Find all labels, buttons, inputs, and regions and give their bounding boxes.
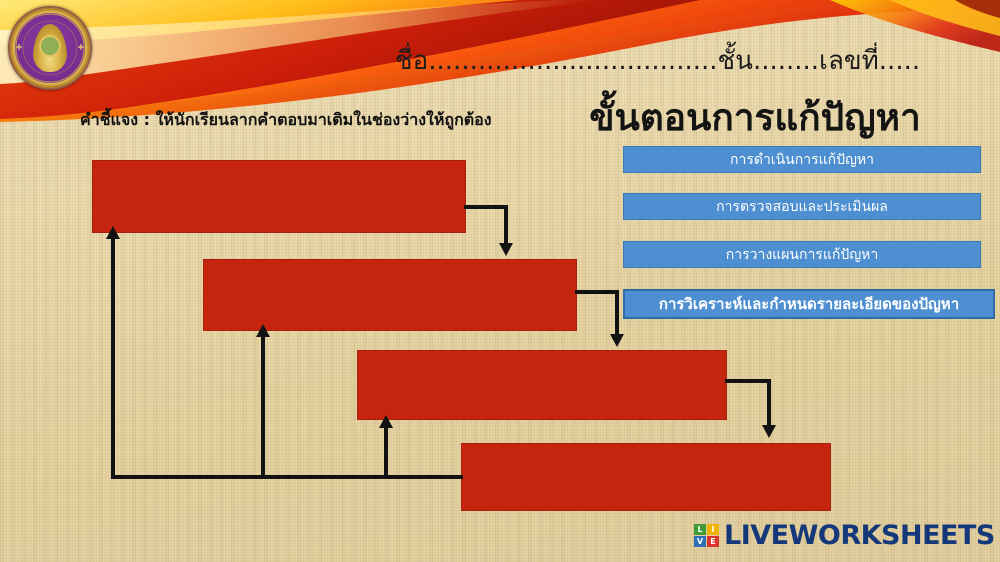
liveworksheets-wordmark: LIVEWORKSHEETS xyxy=(724,522,995,549)
worksheet-page: ชื่อ...................................ช… xyxy=(0,0,1000,562)
answer-chip-4[interactable]: การวิเคราะห์และกำหนดรายละเอียดของปัญหา xyxy=(623,289,995,319)
connector-1-horizontal xyxy=(464,205,508,209)
connector-2-vertical xyxy=(615,290,619,336)
connector-1-vertical xyxy=(504,205,508,245)
drop-target-2[interactable] xyxy=(203,259,577,331)
logo-tile-v: V xyxy=(694,536,706,547)
connector-3-horizontal xyxy=(725,379,771,383)
feedback-loop-rail xyxy=(111,475,463,479)
liveworksheets-logo-tiles: L I V E xyxy=(694,524,719,547)
instruction-text: คำชี้แจง : ให้นักเรียนลากคำตอบมาเติมในช่… xyxy=(80,108,492,133)
connector-2-horizontal xyxy=(575,290,619,294)
feedback-arrowhead-1 xyxy=(106,226,120,239)
drop-target-3[interactable] xyxy=(357,350,727,420)
feedback-arrowhead-3 xyxy=(379,415,393,428)
connector-1-arrowhead xyxy=(499,243,513,256)
feedback-riser-1 xyxy=(111,238,115,477)
connector-3-arrowhead xyxy=(762,425,776,438)
connector-2-arrowhead xyxy=(610,334,624,347)
feedback-arrowhead-2 xyxy=(256,324,270,337)
logo-tile-l: L xyxy=(694,524,706,535)
connector-3-vertical xyxy=(767,379,771,427)
logo-tile-i: I xyxy=(707,524,719,535)
student-name-line: ชื่อ...................................ช… xyxy=(395,40,955,81)
liveworksheets-logo[interactable]: L I V E LIVEWORKSHEETS xyxy=(694,522,995,549)
feedback-riser-2 xyxy=(261,336,265,477)
answer-chip-1[interactable]: การดำเนินการแก้ปัญหา xyxy=(623,146,981,173)
page-title: ขั้นตอนการแก้ปัญหา xyxy=(545,88,965,147)
school-emblem-icon xyxy=(8,6,92,90)
drop-target-4[interactable] xyxy=(461,443,831,511)
drop-target-1[interactable] xyxy=(92,160,466,233)
feedback-riser-3 xyxy=(384,427,388,477)
logo-tile-e: E xyxy=(707,536,719,547)
emblem-text-arc xyxy=(8,6,92,90)
answer-chip-3[interactable]: การวางแผนการแก้ปัญหา xyxy=(623,241,981,268)
answer-chip-2[interactable]: การตรวจสอบและประเมินผล xyxy=(623,193,981,220)
